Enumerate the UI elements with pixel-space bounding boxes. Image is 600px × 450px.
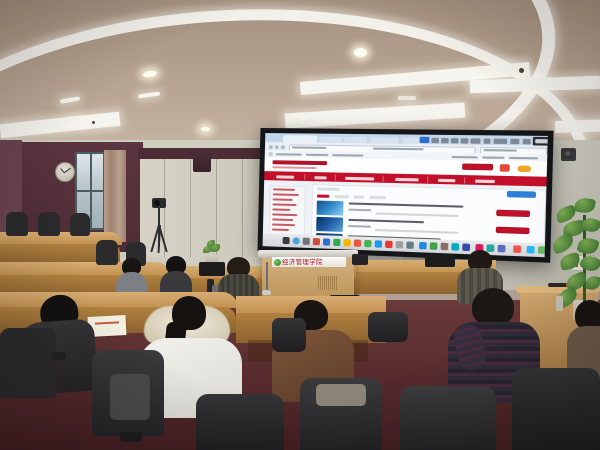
dock-icon[interactable] xyxy=(486,244,494,252)
chair[interactable] xyxy=(196,394,284,450)
bookmark-item[interactable] xyxy=(452,156,478,159)
dock-icon[interactable] xyxy=(406,241,414,249)
breadcrumb xyxy=(317,187,340,191)
dock-icon[interactable] xyxy=(430,242,438,250)
wall-camera-lens xyxy=(565,151,572,158)
chair[interactable] xyxy=(512,368,600,450)
chair[interactable] xyxy=(6,212,28,236)
nav-item[interactable] xyxy=(314,176,326,179)
laptop xyxy=(199,262,225,276)
camera-lens xyxy=(154,200,160,206)
list-action-button[interactable] xyxy=(496,227,530,234)
chair-armrest xyxy=(52,352,66,360)
list-action-button[interactable] xyxy=(496,210,530,217)
dock-icon[interactable] xyxy=(419,242,427,250)
chair[interactable] xyxy=(368,312,408,342)
school-logo-icon xyxy=(274,259,281,266)
dock-icon[interactable] xyxy=(283,237,290,244)
dock-icon[interactable] xyxy=(498,245,506,253)
laptop xyxy=(425,254,455,267)
lectern-side-monitor xyxy=(352,254,368,265)
chair[interactable] xyxy=(0,328,56,398)
dock-icon[interactable] xyxy=(375,240,383,247)
chair[interactable] xyxy=(96,240,118,265)
dock-icon[interactable] xyxy=(462,243,470,251)
lectern-speaker-grille xyxy=(318,276,338,290)
dock-icon[interactable] xyxy=(313,238,320,245)
dock-icon[interactable] xyxy=(354,239,361,246)
dock-icon[interactable] xyxy=(364,240,371,247)
chair[interactable] xyxy=(38,212,60,236)
wall-clock xyxy=(55,162,75,182)
chair[interactable] xyxy=(70,213,90,236)
dock-icon[interactable] xyxy=(323,238,330,245)
dock-icon[interactable] xyxy=(538,246,546,254)
nav-item[interactable] xyxy=(276,175,294,178)
wall-speaker xyxy=(193,150,211,172)
chair[interactable] xyxy=(400,386,496,450)
lectern-plate-text: 经济管理学院 xyxy=(282,259,323,266)
dock-icon[interactable] xyxy=(441,243,449,251)
header-login-button[interactable] xyxy=(462,163,493,170)
chair[interactable] xyxy=(272,318,306,352)
bookmark-item[interactable] xyxy=(482,156,504,158)
bookmark-item[interactable] xyxy=(509,157,538,160)
filter-tab[interactable] xyxy=(317,194,329,197)
water-bottle xyxy=(556,296,563,311)
hair xyxy=(472,288,514,326)
nav-item[interactable] xyxy=(438,178,455,182)
header-icon-1[interactable] xyxy=(500,164,510,172)
nav-item[interactable] xyxy=(395,177,418,181)
list-thumbnail[interactable] xyxy=(316,217,343,232)
header-icon-2[interactable] xyxy=(517,166,531,173)
list-thumbnail[interactable] xyxy=(317,201,344,216)
bookmark-item[interactable] xyxy=(276,153,302,155)
ceiling-speaker xyxy=(519,68,524,73)
bookmark-item[interactable] xyxy=(306,154,328,156)
dock-icon[interactable] xyxy=(451,243,459,251)
wall-display[interactable] xyxy=(258,128,554,263)
primary-action-button[interactable] xyxy=(507,191,536,198)
microphone-stand xyxy=(266,262,268,292)
dock-icon[interactable] xyxy=(385,241,393,249)
filter-tab[interactable] xyxy=(370,196,387,200)
chair-cushion xyxy=(316,384,366,406)
ceiling-sensor xyxy=(92,121,95,124)
nav-item[interactable] xyxy=(475,179,495,183)
nav-item[interactable] xyxy=(345,176,374,180)
dock-icon[interactable] xyxy=(527,246,535,254)
chair-cushion xyxy=(110,374,150,420)
microphone-head xyxy=(262,290,271,295)
filter-tab[interactable] xyxy=(354,195,364,198)
filter-tab[interactable] xyxy=(334,195,348,198)
dock-icon[interactable] xyxy=(293,237,300,244)
dock-icon[interactable] xyxy=(303,238,310,245)
dock-icon[interactable] xyxy=(396,241,404,249)
dock-icon[interactable] xyxy=(513,245,521,253)
chair-base xyxy=(120,432,142,442)
display-screen[interactable] xyxy=(263,133,548,257)
curtain xyxy=(104,150,126,242)
browser-action-button[interactable] xyxy=(420,137,430,143)
dock-icon[interactable] xyxy=(333,239,340,246)
dock-icon[interactable] xyxy=(343,239,350,246)
conference-room-photo: 经济管理学院 xyxy=(0,0,600,450)
lectern-nameplate: 经济管理学院 xyxy=(272,257,346,267)
